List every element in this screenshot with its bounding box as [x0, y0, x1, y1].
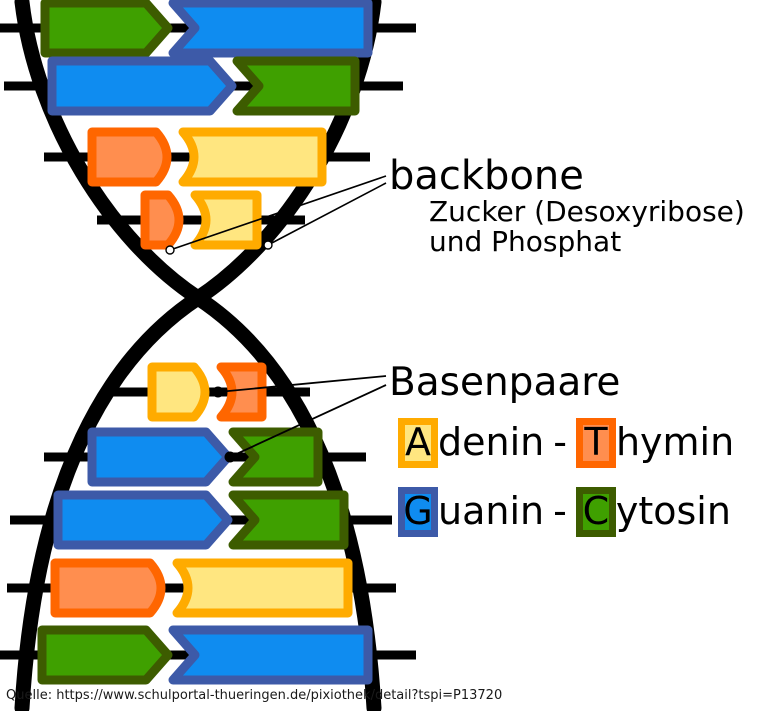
legend-word-cytosin: ytosin — [616, 492, 731, 533]
legend-word-thymin: hymin — [616, 423, 734, 464]
source-caption: Quelle: https://www.schulportal-thuering… — [6, 689, 502, 702]
basepair-marker-dot-at-icon — [213, 387, 224, 398]
callout-leader-lines — [0, 0, 777, 711]
legend-row-guanin-cytosin: G uanin - C ytosin — [398, 484, 731, 540]
basepair-leader-line-1 — [218, 376, 386, 392]
backbone-marker-dot-left-icon — [166, 246, 174, 254]
legend-word-adenine: denin — [438, 423, 544, 464]
backbone-sublabel-line-1: Zucker (Desoxyribose) — [429, 198, 745, 226]
legend-badge-adenine: A — [398, 418, 438, 468]
legend-badge-cytosin: C — [576, 487, 616, 537]
backbone-leader-line-1 — [268, 183, 386, 245]
legend-badge-guanin: G — [398, 487, 438, 537]
legend-separator-gc: - — [544, 492, 576, 533]
legend-badge-thymin: T — [576, 418, 616, 468]
legend-word-guanin: uanin — [438, 492, 544, 533]
backbone-sublabel-line-2: und Phosphat — [429, 228, 621, 256]
legend-row-adenine-thymin: A denin - T hymin — [398, 415, 734, 471]
basepair-leader-line-2 — [230, 385, 386, 457]
basepair-marker-dot-gc-icon — [225, 452, 236, 463]
legend-separator-at: - — [544, 423, 576, 464]
basepairs-label: Basenpaare — [389, 363, 620, 402]
dna-diagram: backbone Zucker (Desoxyribose) und Phosp… — [0, 0, 777, 711]
backbone-label: backbone — [389, 156, 584, 196]
backbone-marker-dot-right-icon — [264, 241, 272, 249]
